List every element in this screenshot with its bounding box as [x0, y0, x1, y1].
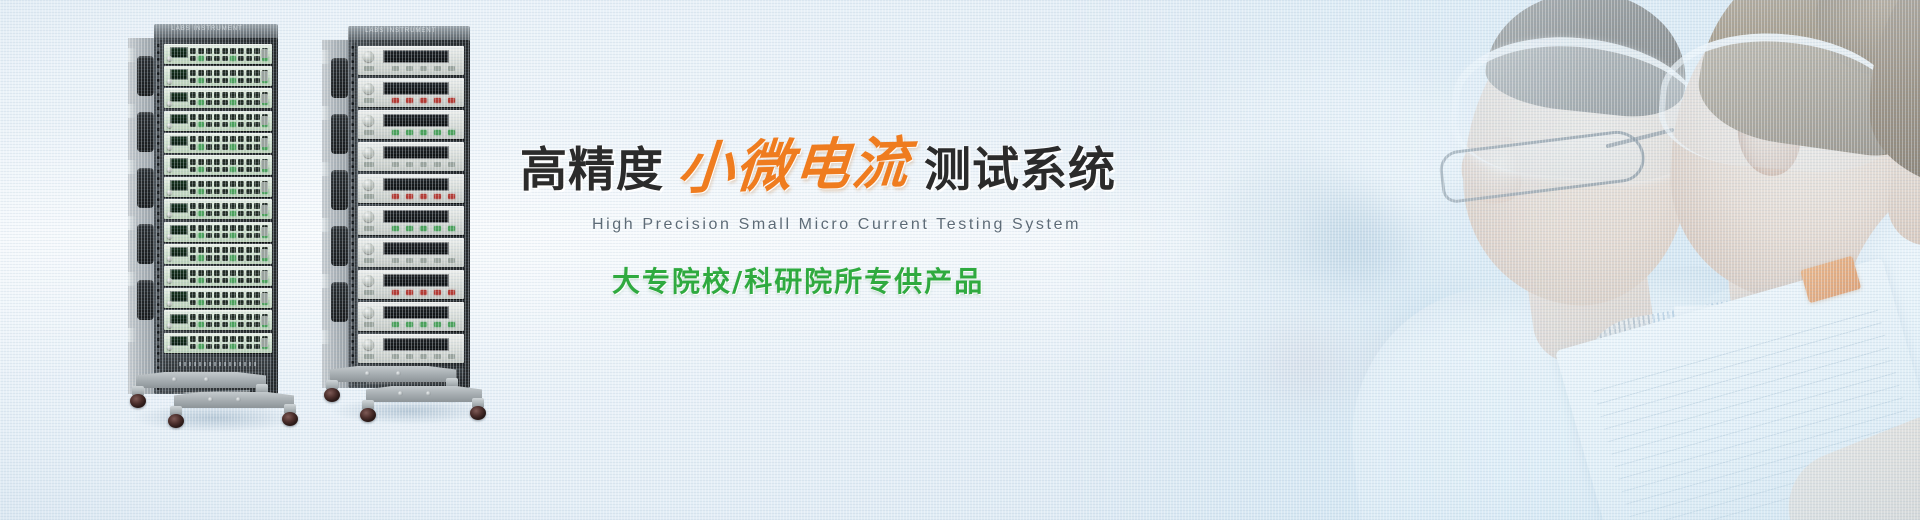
module-button[interactable]	[434, 130, 441, 135]
module-button[interactable]	[392, 322, 399, 327]
module-button[interactable]	[434, 258, 441, 263]
module-display	[170, 136, 187, 146]
module-power-button[interactable]	[364, 130, 374, 135]
module-button[interactable]	[392, 226, 399, 231]
module-button[interactable]	[198, 247, 204, 253]
module-indicator	[190, 189, 196, 194]
module-button[interactable]	[206, 181, 212, 187]
module-button[interactable]	[238, 181, 244, 187]
module-power-button[interactable]	[364, 98, 374, 103]
module-button[interactable]	[190, 114, 196, 120]
module-indicator	[254, 189, 260, 194]
module-button[interactable]	[254, 292, 260, 298]
module-button[interactable]	[254, 136, 260, 142]
module-button[interactable]	[406, 354, 413, 359]
module-knob[interactable]	[363, 83, 374, 94]
module-button[interactable]	[222, 181, 228, 187]
module-indicator	[230, 300, 236, 305]
module-button[interactable]	[198, 48, 204, 54]
instrument-module[interactable]	[358, 334, 464, 363]
module-button[interactable]	[246, 314, 252, 320]
module-button[interactable]	[238, 70, 244, 76]
module-button[interactable]	[392, 130, 399, 135]
instrument-module[interactable]	[358, 302, 464, 331]
module-button[interactable]	[434, 162, 441, 167]
module-button[interactable]	[246, 336, 252, 342]
module-button[interactable]	[434, 194, 441, 199]
module-indicator	[198, 233, 204, 238]
module-button[interactable]	[206, 92, 212, 98]
module-button[interactable]	[198, 336, 204, 342]
rail-hole	[157, 121, 160, 124]
module-display	[383, 242, 449, 255]
module-button[interactable]	[448, 354, 455, 359]
module-button[interactable]	[434, 290, 441, 295]
module-button[interactable]	[214, 203, 220, 209]
module-button[interactable]	[206, 114, 212, 120]
module-button[interactable]	[392, 290, 399, 295]
module-button[interactable]	[214, 92, 220, 98]
module-button[interactable]	[246, 292, 252, 298]
module-knob[interactable]	[167, 278, 172, 283]
module-button[interactable]	[190, 225, 196, 231]
module-button[interactable]	[406, 258, 413, 263]
module-button[interactable]	[448, 98, 455, 103]
module-button[interactable]	[214, 314, 220, 320]
module-knob[interactable]	[167, 79, 172, 84]
module-button[interactable]	[246, 114, 252, 120]
module-knob[interactable]	[363, 275, 374, 286]
module-button[interactable]	[420, 162, 427, 167]
module-button[interactable]	[206, 336, 212, 342]
module-button[interactable]	[406, 66, 413, 71]
module-power-button[interactable]	[364, 226, 374, 231]
module-button[interactable]	[214, 181, 220, 187]
module-button[interactable]	[246, 203, 252, 209]
module-button[interactable]	[206, 159, 212, 165]
module-button[interactable]	[206, 48, 212, 54]
module-button[interactable]	[420, 130, 427, 135]
rail-hole	[351, 340, 354, 343]
module-button[interactable]	[254, 247, 260, 253]
module-button[interactable]	[222, 292, 228, 298]
rail-hole	[157, 359, 160, 362]
module-indicator	[238, 122, 244, 127]
module-button[interactable]	[392, 66, 399, 71]
module-button[interactable]	[198, 159, 204, 165]
module-knob[interactable]	[167, 345, 172, 350]
module-button[interactable]	[392, 162, 399, 167]
module-power-button[interactable]	[364, 66, 374, 71]
module-button[interactable]	[206, 136, 212, 142]
module-button[interactable]	[222, 203, 228, 209]
module-indicator	[198, 122, 204, 127]
rack-brand-label: LABS INSTRUMENT	[171, 26, 242, 32]
instrument-module[interactable]	[164, 266, 272, 286]
module-button[interactable]	[230, 159, 236, 165]
module-button[interactable]	[222, 70, 228, 76]
module-button[interactable]	[238, 203, 244, 209]
module-power-button[interactable]	[261, 205, 268, 214]
module-knob[interactable]	[167, 167, 172, 172]
module-knob[interactable]	[167, 323, 172, 328]
instrument-module[interactable]	[164, 44, 272, 64]
module-power-button[interactable]	[261, 160, 268, 169]
module-knob[interactable]	[363, 179, 374, 190]
module-button[interactable]	[238, 292, 244, 298]
module-button[interactable]	[190, 159, 196, 165]
module-button[interactable]	[198, 314, 204, 320]
rail-hole	[351, 123, 354, 126]
module-button[interactable]	[206, 247, 212, 253]
module-button[interactable]	[230, 203, 236, 209]
module-button[interactable]	[448, 130, 455, 135]
instrument-module[interactable]	[164, 177, 272, 197]
module-button[interactable]	[222, 136, 228, 142]
module-button[interactable]	[238, 314, 244, 320]
module-button[interactable]	[214, 292, 220, 298]
rail-hole	[351, 228, 354, 231]
module-button[interactable]	[222, 114, 228, 120]
instrument-module[interactable]	[358, 238, 464, 267]
module-button[interactable]	[230, 136, 236, 142]
module-button[interactable]	[246, 70, 252, 76]
module-button[interactable]	[198, 181, 204, 187]
module-button[interactable]	[420, 354, 427, 359]
module-button[interactable]	[230, 181, 236, 187]
module-button[interactable]	[222, 159, 228, 165]
rail-hole	[351, 186, 354, 189]
module-button[interactable]	[420, 322, 427, 327]
module-power-button[interactable]	[364, 258, 374, 263]
promo-banner: LABS INSTRUMENT LABS INSTRUMENT 高精度 小微电流…	[0, 0, 1920, 520]
module-button[interactable]	[230, 336, 236, 342]
module-button[interactable]	[420, 66, 427, 71]
instrument-module[interactable]	[358, 270, 464, 299]
module-button[interactable]	[406, 322, 413, 327]
module-power-button[interactable]	[261, 49, 268, 58]
instrument-module[interactable]	[164, 333, 272, 353]
module-button[interactable]	[198, 203, 204, 209]
module-knob[interactable]	[167, 190, 172, 195]
module-indicator	[206, 322, 212, 327]
module-display	[170, 69, 187, 79]
module-button[interactable]	[246, 181, 252, 187]
module-button[interactable]	[254, 314, 260, 320]
module-button[interactable]	[392, 354, 399, 359]
module-button[interactable]	[392, 98, 399, 103]
module-button[interactable]	[448, 162, 455, 167]
module-button[interactable]	[222, 314, 228, 320]
module-button[interactable]	[448, 226, 455, 231]
module-power-button[interactable]	[261, 138, 268, 147]
module-button[interactable]	[230, 270, 236, 276]
module-button[interactable]	[214, 136, 220, 142]
module-indicator	[206, 344, 212, 349]
instrument-module[interactable]	[358, 206, 464, 235]
module-power-button[interactable]	[364, 162, 374, 167]
module-indicator	[238, 344, 244, 349]
module-button[interactable]	[206, 225, 212, 231]
module-button[interactable]	[190, 92, 196, 98]
module-power-button[interactable]	[261, 249, 268, 258]
module-button[interactable]	[230, 70, 236, 76]
module-button[interactable]	[222, 247, 228, 253]
module-button[interactable]	[406, 290, 413, 295]
module-indicator	[222, 122, 228, 127]
module-indicator	[190, 56, 196, 61]
module-button[interactable]	[206, 70, 212, 76]
module-power-button[interactable]	[364, 322, 374, 327]
rail-hole	[157, 198, 160, 201]
module-button[interactable]	[214, 336, 220, 342]
module-button[interactable]	[198, 92, 204, 98]
module-button[interactable]	[238, 270, 244, 276]
instrument-module[interactable]	[164, 88, 272, 108]
module-button[interactable]	[392, 258, 399, 263]
module-button[interactable]	[190, 48, 196, 54]
module-button[interactable]	[420, 194, 427, 199]
module-button[interactable]	[448, 258, 455, 263]
module-button[interactable]	[434, 354, 441, 359]
module-button[interactable]	[230, 92, 236, 98]
module-button[interactable]	[198, 225, 204, 231]
module-button[interactable]	[222, 336, 228, 342]
rail-hole	[351, 102, 354, 105]
module-button[interactable]	[214, 225, 220, 231]
module-knob[interactable]	[167, 123, 172, 128]
module-button[interactable]	[230, 314, 236, 320]
module-button[interactable]	[246, 270, 252, 276]
module-indicator	[246, 122, 252, 127]
module-display	[170, 247, 187, 257]
module-indicator	[190, 300, 196, 305]
module-button[interactable]	[448, 322, 455, 327]
module-button[interactable]	[254, 159, 260, 165]
module-button[interactable]	[448, 194, 455, 199]
module-knob[interactable]	[167, 145, 172, 150]
module-button[interactable]	[254, 336, 260, 342]
module-indicator	[238, 211, 244, 216]
module-indicator	[222, 255, 228, 260]
module-button[interactable]	[190, 336, 196, 342]
module-button[interactable]	[222, 270, 228, 276]
module-button[interactable]	[238, 247, 244, 253]
caster-wheel	[130, 394, 146, 408]
module-power-button[interactable]	[364, 194, 374, 199]
instrument-module[interactable]	[164, 310, 272, 330]
instrument-module[interactable]	[164, 133, 272, 153]
module-button[interactable]	[448, 66, 455, 71]
module-knob[interactable]	[363, 115, 374, 126]
rail-hole	[157, 282, 160, 285]
module-button[interactable]	[238, 136, 244, 142]
module-button[interactable]	[406, 130, 413, 135]
instrument-module[interactable]	[164, 199, 272, 219]
module-button[interactable]	[190, 136, 196, 142]
module-button[interactable]	[190, 181, 196, 187]
module-display	[170, 114, 187, 124]
rail-hole	[157, 317, 160, 320]
module-button[interactable]	[190, 270, 196, 276]
module-button[interactable]	[238, 92, 244, 98]
module-button[interactable]	[206, 270, 212, 276]
module-indicator	[238, 78, 244, 83]
module-button[interactable]	[222, 92, 228, 98]
module-knob[interactable]	[167, 256, 172, 261]
module-button[interactable]	[230, 114, 236, 120]
module-button[interactable]	[406, 226, 413, 231]
module-indicator	[230, 56, 236, 61]
instrument-module[interactable]	[358, 110, 464, 139]
module-button[interactable]	[254, 203, 260, 209]
module-button[interactable]	[238, 159, 244, 165]
module-power-button[interactable]	[261, 227, 268, 236]
module-button[interactable]	[246, 92, 252, 98]
instrument-module[interactable]	[164, 288, 272, 308]
module-button[interactable]	[246, 159, 252, 165]
module-button[interactable]	[198, 70, 204, 76]
rack-side-tab	[128, 328, 136, 342]
module-knob[interactable]	[167, 301, 172, 306]
module-power-button[interactable]	[364, 290, 374, 295]
module-button[interactable]	[206, 314, 212, 320]
module-button[interactable]	[420, 98, 427, 103]
module-button[interactable]	[214, 247, 220, 253]
instrument-module[interactable]	[358, 142, 464, 171]
module-button[interactable]	[214, 270, 220, 276]
module-knob[interactable]	[363, 243, 374, 254]
module-button[interactable]	[246, 48, 252, 54]
module-button[interactable]	[246, 247, 252, 253]
module-button[interactable]	[254, 48, 260, 54]
rail-hole	[351, 172, 354, 175]
instrument-module[interactable]	[164, 66, 272, 86]
rack-side-cutout	[137, 168, 154, 208]
instrument-module[interactable]	[164, 244, 272, 264]
module-button[interactable]	[434, 322, 441, 327]
module-indicator	[222, 78, 228, 83]
module-indicator	[206, 122, 212, 127]
module-button[interactable]	[254, 114, 260, 120]
module-button[interactable]	[254, 92, 260, 98]
module-button[interactable]	[434, 98, 441, 103]
module-button[interactable]	[406, 162, 413, 167]
module-button[interactable]	[238, 114, 244, 120]
instrument-module[interactable]	[164, 111, 272, 131]
module-power-button[interactable]	[261, 71, 268, 80]
module-button[interactable]	[238, 225, 244, 231]
module-button[interactable]	[190, 314, 196, 320]
module-button[interactable]	[254, 225, 260, 231]
module-button[interactable]	[214, 70, 220, 76]
rail-hole	[157, 247, 160, 250]
module-knob[interactable]	[167, 234, 172, 239]
module-button[interactable]	[392, 194, 399, 199]
module-button[interactable]	[230, 225, 236, 231]
module-button[interactable]	[222, 225, 228, 231]
module-button[interactable]	[420, 226, 427, 231]
module-button[interactable]	[198, 292, 204, 298]
module-button[interactable]	[230, 292, 236, 298]
module-knob[interactable]	[363, 211, 374, 222]
base-bolt	[365, 371, 370, 376]
module-button[interactable]	[214, 159, 220, 165]
module-button[interactable]	[198, 114, 204, 120]
rail-hole	[351, 347, 354, 350]
module-button[interactable]	[190, 292, 196, 298]
module-button[interactable]	[406, 194, 413, 199]
module-button[interactable]	[198, 136, 204, 142]
instrument-module[interactable]	[358, 46, 464, 75]
module-button[interactable]	[206, 203, 212, 209]
module-knob[interactable]	[363, 51, 374, 62]
module-power-button[interactable]	[261, 94, 268, 103]
module-indicator	[214, 189, 220, 194]
module-button[interactable]	[190, 247, 196, 253]
module-button[interactable]	[246, 225, 252, 231]
module-button[interactable]	[254, 181, 260, 187]
module-knob[interactable]	[167, 56, 172, 61]
module-power-button[interactable]	[364, 354, 374, 359]
module-indicator	[238, 189, 244, 194]
module-button[interactable]	[434, 66, 441, 71]
module-indicator	[206, 78, 212, 83]
module-button[interactable]	[434, 226, 441, 231]
instrument-module[interactable]	[164, 155, 272, 175]
module-power-button[interactable]	[261, 182, 268, 191]
module-button[interactable]	[406, 98, 413, 103]
module-knob[interactable]	[363, 339, 374, 350]
module-button[interactable]	[238, 336, 244, 342]
instrument-module[interactable]	[358, 78, 464, 107]
module-button[interactable]	[214, 48, 220, 54]
module-power-button[interactable]	[261, 293, 268, 302]
module-power-button[interactable]	[261, 338, 268, 347]
module-power-button[interactable]	[261, 316, 268, 325]
module-button[interactable]	[206, 292, 212, 298]
module-knob[interactable]	[167, 212, 172, 217]
module-knob[interactable]	[363, 307, 374, 318]
module-button[interactable]	[420, 258, 427, 263]
module-display	[170, 336, 187, 346]
module-button[interactable]	[214, 114, 220, 120]
rail-hole	[157, 163, 160, 166]
module-button[interactable]	[198, 270, 204, 276]
module-indicator	[198, 300, 204, 305]
module-button[interactable]	[254, 270, 260, 276]
module-button[interactable]	[190, 70, 196, 76]
rail-hole	[157, 219, 160, 222]
module-button[interactable]	[254, 70, 260, 76]
module-button[interactable]	[222, 48, 228, 54]
module-button[interactable]	[190, 203, 196, 209]
module-power-button[interactable]	[261, 116, 268, 125]
module-knob[interactable]	[167, 101, 172, 106]
module-indicator	[214, 278, 220, 283]
module-button[interactable]	[238, 48, 244, 54]
instrument-module[interactable]	[164, 222, 272, 242]
module-power-button[interactable]	[261, 271, 268, 280]
module-button[interactable]	[230, 247, 236, 253]
module-button[interactable]	[246, 136, 252, 142]
module-button[interactable]	[230, 48, 236, 54]
module-button[interactable]	[448, 290, 455, 295]
module-knob[interactable]	[363, 147, 374, 158]
module-button[interactable]	[420, 290, 427, 295]
instrument-module[interactable]	[358, 174, 464, 203]
module-indicator	[246, 211, 252, 216]
